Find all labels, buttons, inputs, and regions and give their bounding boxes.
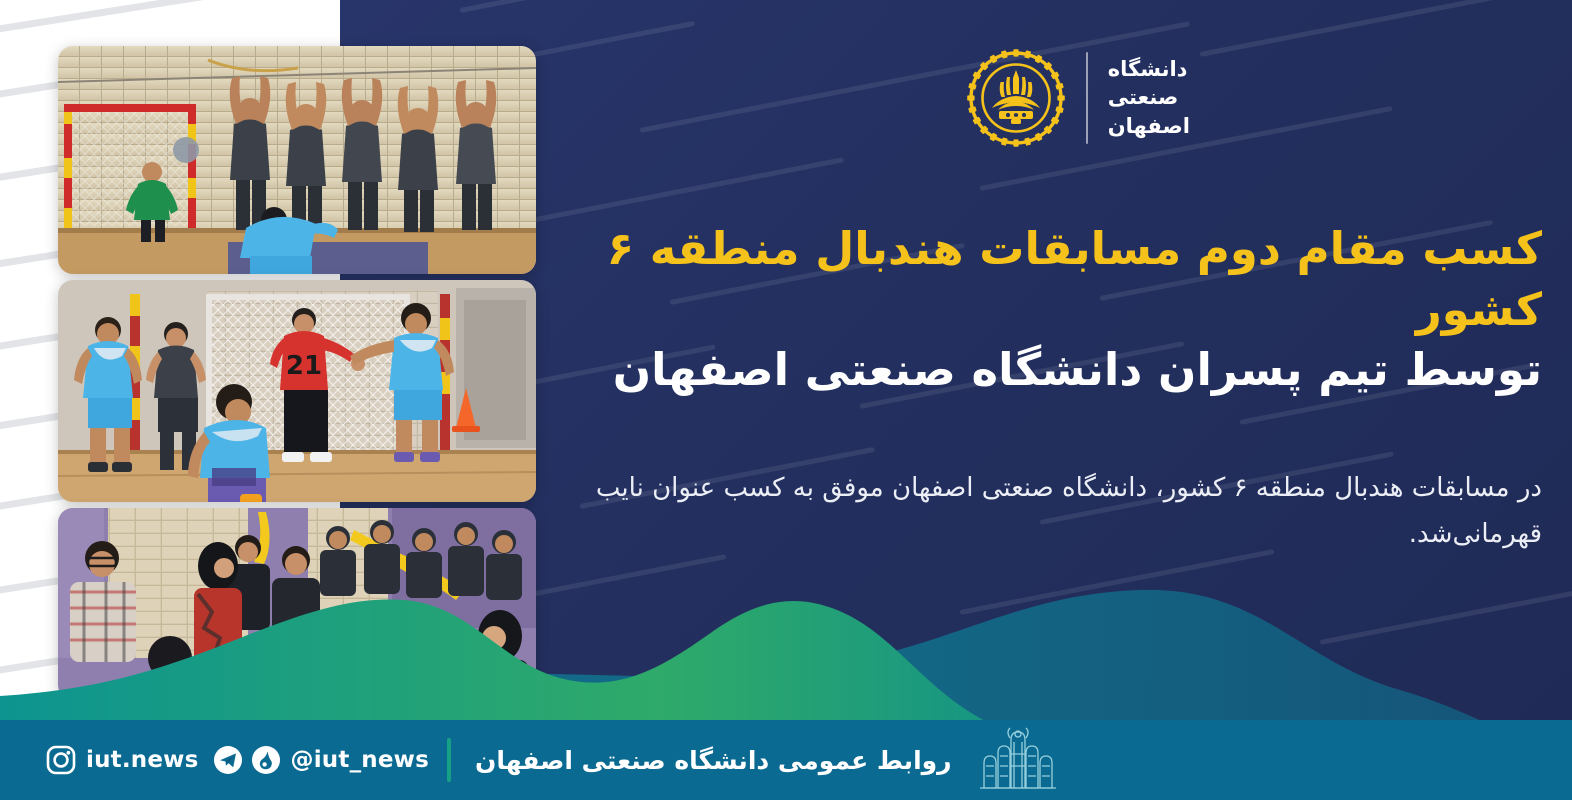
- news-banner: دانشگاه صنعتی اصفهان: [0, 0, 1572, 800]
- instagram-link[interactable]: iut.news: [46, 745, 199, 775]
- headline-line-1: کسب مقام دوم مسابقات هندبال منطقه ۶ کشور: [532, 219, 1542, 340]
- university-name: دانشگاه صنعتی اصفهان: [1108, 58, 1190, 139]
- decorative-streak: [0, 0, 267, 37]
- svg-text:21: 21: [286, 351, 322, 381]
- public-relations-label: روابط عمومی دانشگاه صنعتی اصفهان: [475, 746, 952, 775]
- university-name-line-2: صنعتی: [1108, 86, 1179, 110]
- photo-handball-defense: [58, 46, 536, 274]
- headline: کسب مقام دوم مسابقات هندبال منطقه ۶ کشور…: [532, 219, 1542, 400]
- telegram-icon[interactable]: [213, 745, 243, 775]
- decorative-streak: [1200, 0, 1525, 57]
- instagram-handle[interactable]: iut.news: [86, 747, 199, 773]
- footer-bar: iut.news @iut_news روابط عمومی دانشگا: [0, 720, 1572, 800]
- messenger-links[interactable]: @iut_news: [213, 745, 429, 775]
- decorative-streak: [460, 0, 873, 13]
- university-logo-lockup: دانشگاه صنعتی اصفهان: [940, 34, 1190, 162]
- university-name-line-1: دانشگاه: [1108, 58, 1188, 82]
- messenger-handle[interactable]: @iut_news: [291, 747, 429, 773]
- bale-icon[interactable]: [251, 745, 281, 775]
- photo-iut-players: 21: [58, 280, 536, 502]
- body-paragraph: در مسابقات هندبال منطقه ۶ کشور، دانشگاه …: [532, 466, 1542, 557]
- headline-line-2: توسط تیم پسران دانشگاه صنعتی اصفهان: [532, 340, 1542, 400]
- university-name-line-3: اصفهان: [1108, 115, 1190, 139]
- decorative-streak: [510, 157, 845, 227]
- footer-divider: [447, 738, 451, 782]
- isfahan-monument-icon: [970, 724, 1066, 796]
- instagram-icon[interactable]: [46, 745, 76, 775]
- iut-gear-emblem-icon: [966, 48, 1066, 148]
- logo-divider: [1086, 52, 1088, 144]
